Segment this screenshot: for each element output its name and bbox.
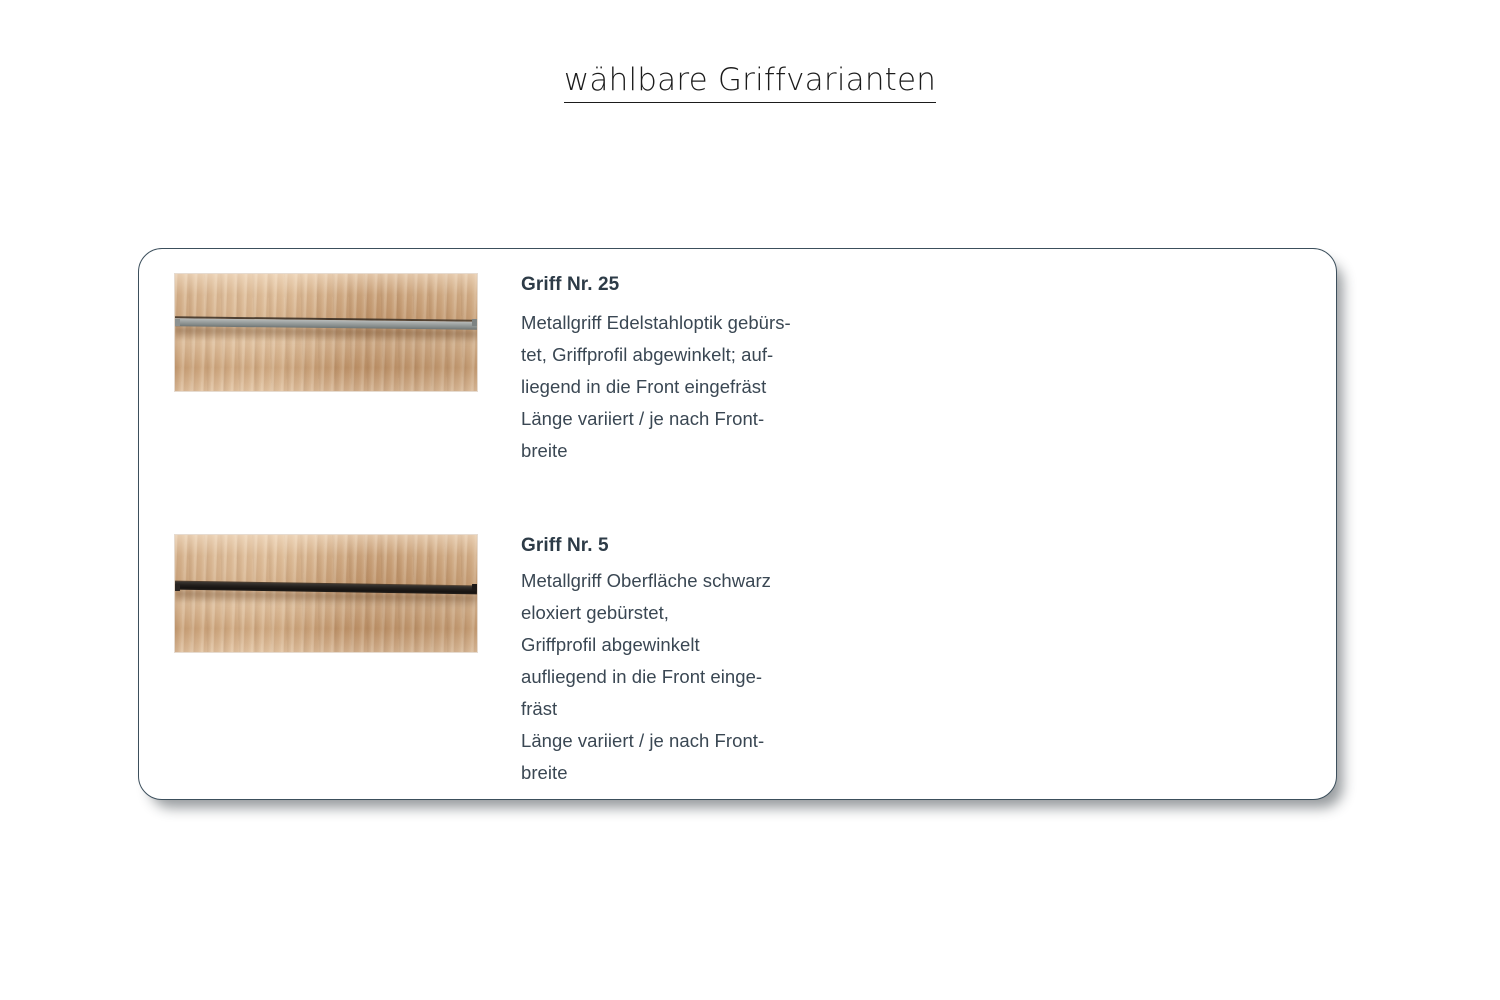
handle-variants-card: Griff Nr. 25 Metallgriff Edelstahloptik …: [138, 248, 1337, 800]
handle-cap-right: [472, 319, 477, 326]
variant-row: Griff Nr. 25 Metallgriff Edelstahloptik …: [175, 274, 991, 467]
griff-nr-5-photo: [175, 535, 477, 652]
griff-nr-25-photo: [175, 274, 477, 391]
handle-cap-right: [472, 584, 477, 591]
variant-row: Griff Nr. 5 Metallgriff Oberfläche schwa…: [175, 535, 991, 789]
handle-cap-left: [175, 584, 180, 591]
variant-description: Metallgriff Oberfläche schwarz eloxiert …: [521, 565, 991, 789]
variant-heading: Griff Nr. 5: [521, 536, 991, 557]
variant-heading: Griff Nr. 25: [521, 275, 991, 296]
variant-description: Metallgriff Edelstahloptik gebürs- tet, …: [521, 307, 991, 467]
handle-cap-left: [175, 319, 180, 326]
variant-text-block: Griff Nr. 5 Metallgriff Oberfläche schwa…: [521, 535, 991, 789]
page-title-text: wählbare Griffvarianten: [564, 62, 936, 103]
page-title: wählbare Griffvarianten: [0, 62, 1500, 103]
variant-text-block: Griff Nr. 25 Metallgriff Edelstahloptik …: [521, 274, 991, 467]
